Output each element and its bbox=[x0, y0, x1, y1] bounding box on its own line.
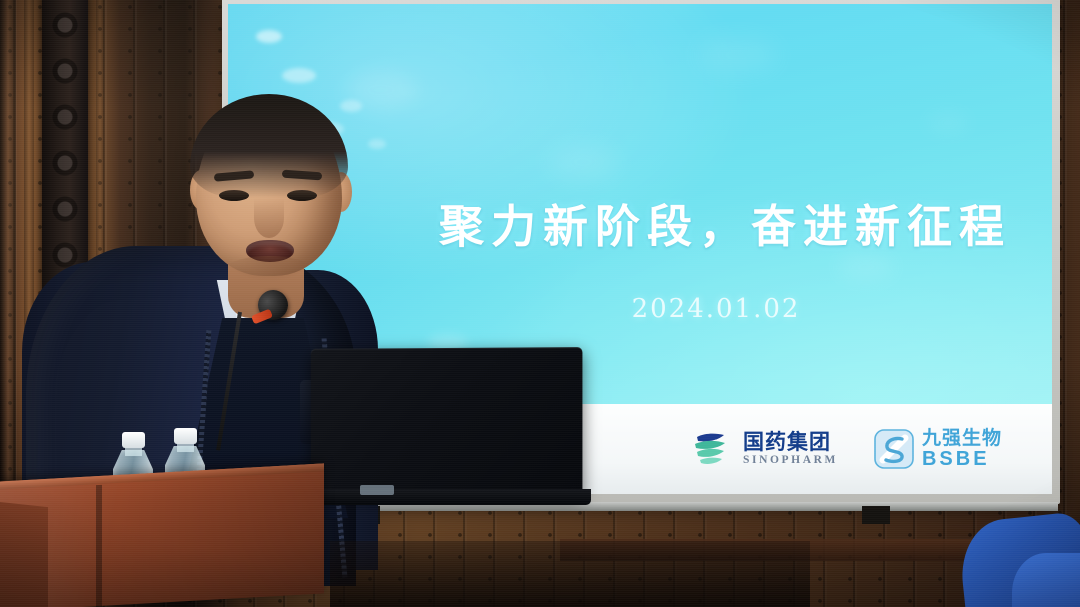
presenter-hair bbox=[190, 94, 348, 198]
thinkpad-laptop[interactable] bbox=[311, 347, 583, 496]
laptop-hinge bbox=[360, 485, 394, 495]
podium-sheen bbox=[0, 463, 324, 607]
foreground-shadow bbox=[330, 541, 810, 607]
podium-corner-edge bbox=[96, 485, 102, 607]
podium-left-panel bbox=[0, 499, 48, 607]
conference-photo: 聚力新阶段，奋进新征程 2024.01.02 国药集团 SINOPHARM bbox=[0, 0, 1080, 607]
presenter-eye-left bbox=[219, 190, 249, 201]
bottle-cap bbox=[122, 432, 145, 448]
laptop-base bbox=[303, 489, 591, 505]
presenter-eye-right bbox=[287, 190, 317, 201]
bottle-cap bbox=[174, 428, 197, 444]
wooden-podium bbox=[0, 463, 324, 607]
presenter-nose bbox=[254, 198, 284, 238]
presenter-chin-shadow bbox=[226, 256, 312, 282]
